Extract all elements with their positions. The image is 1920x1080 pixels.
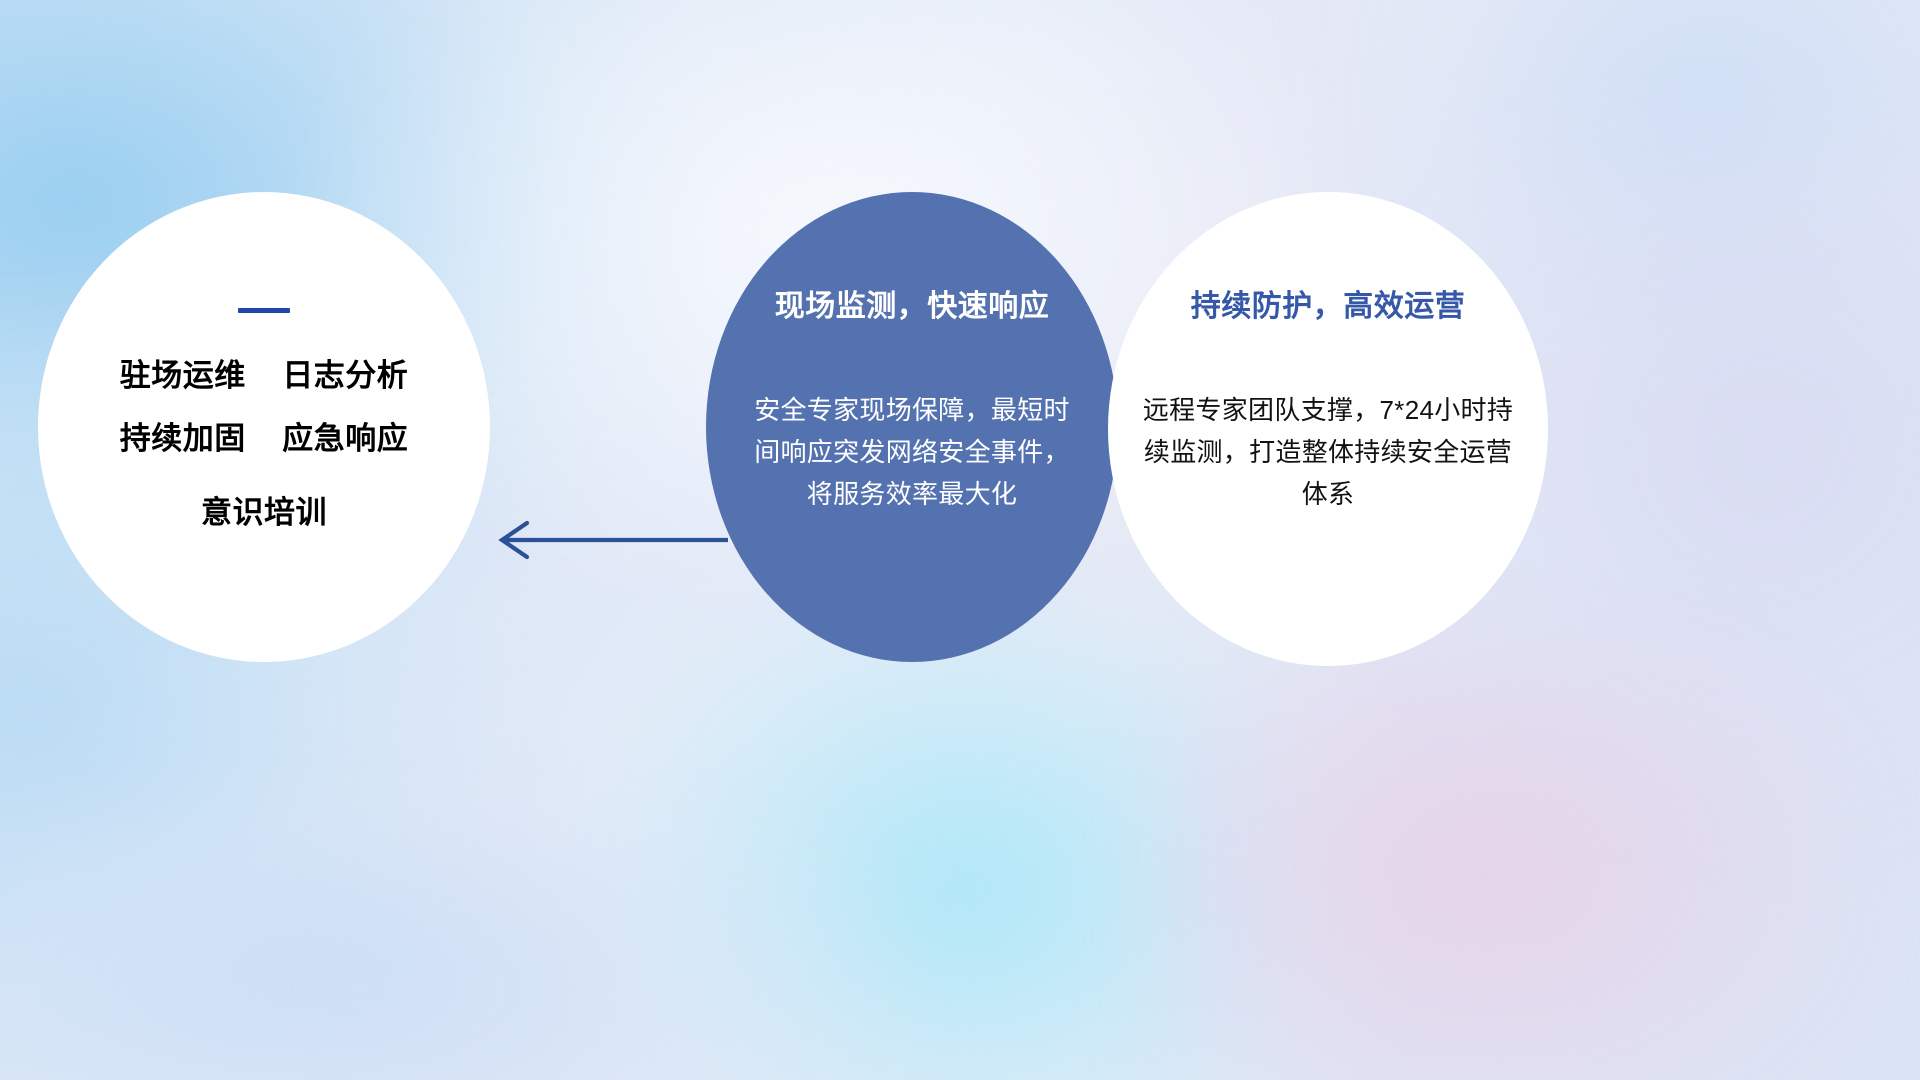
right-white-circle[interactable]: 持续防护，高效运营 远程专家团队支撑，7*24小时持续监测，打造整体持续安全运营…: [1108, 192, 1548, 666]
slide-canvas: 现场监测，快速响应 安全专家现场保障，最短时间响应突发网络安全事件，将服务效率最…: [0, 0, 1920, 1080]
background-glow-bottom-left: [0, 820, 900, 1080]
right-circle-body: 远程专家团队支撑，7*24小时持续监测，打造整体持续安全运营体系: [1138, 389, 1518, 515]
left-circle-content: 驻场运维 日志分析 持续加固 应急响应 意识培训: [38, 192, 490, 662]
right-circle-content: 持续防护，高效运营 远程专家团队支撑，7*24小时持续监测，打造整体持续安全运营…: [1108, 192, 1548, 666]
left-circle-line-2: 持续加固 应急响应: [120, 423, 408, 454]
middle-circle-content: 现场监测，快速响应 安全专家现场保障，最短时间响应突发网络安全事件，将服务效率最…: [706, 192, 1118, 662]
background-glow-pink: [1160, 640, 1880, 1080]
left-circle-line-3: 意识培训: [201, 497, 327, 528]
left-circle-line-1: 驻场运维 日志分析: [120, 360, 408, 391]
middle-circle-body: 安全专家现场保障，最短时间响应突发网络安全事件，将服务效率最大化: [752, 389, 1072, 515]
right-circle-title: 持续防护，高效运营: [1191, 290, 1466, 323]
left-white-circle[interactable]: 驻场运维 日志分析 持续加固 应急响应 意识培训: [38, 192, 490, 662]
dash-accent-icon: [238, 308, 290, 313]
middle-circle-title: 现场监测，快速响应: [775, 290, 1050, 323]
middle-blue-circle[interactable]: 现场监测，快速响应 安全专家现场保障，最短时间响应突发网络安全事件，将服务效率最…: [706, 192, 1118, 662]
left-arrow-icon: [480, 508, 730, 572]
